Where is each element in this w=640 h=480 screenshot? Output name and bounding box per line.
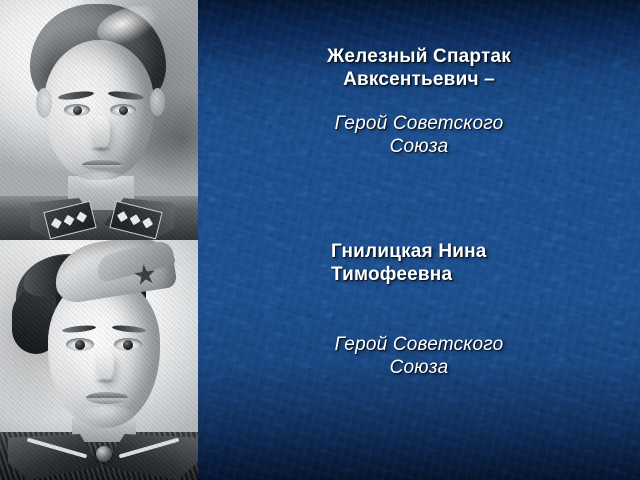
presentation-slide: Железный Спартак Авксентьевич – Герой Со… (0, 0, 640, 480)
ear-right (150, 88, 165, 116)
portrait-column (0, 0, 198, 480)
rank-pip (117, 211, 128, 222)
rank-pip (64, 215, 75, 226)
hero-name-gnilitskaya: Гнилицкая Нина Тимофеевна (331, 240, 487, 286)
portrait-hero-male (0, 0, 198, 240)
nose (92, 116, 110, 150)
ear-left (36, 88, 52, 118)
pupil-left (73, 106, 82, 115)
pupil-right (119, 106, 128, 115)
hero-name-zhelezny: Железный Спартак Авксентьевич – (198, 45, 640, 91)
mouth (82, 160, 122, 170)
chin (78, 406, 136, 426)
pupil-left (75, 340, 85, 350)
nostrils (94, 378, 116, 384)
chin (74, 172, 130, 190)
rank-pip (76, 212, 87, 223)
pupil-right (123, 340, 133, 350)
rank-pip (51, 218, 62, 229)
mouth (86, 392, 128, 404)
face (44, 40, 154, 180)
portrait-hero-female (0, 240, 198, 480)
hero-title-zhelezny: Герой Советского Союза (198, 112, 640, 158)
uniform-button (96, 446, 112, 462)
caption-area: Железный Спартак Авксентьевич – Герой Со… (198, 0, 640, 480)
rank-pip (142, 217, 153, 228)
nostrils (90, 146, 112, 152)
rank-pip (130, 214, 141, 225)
hero-title-gnilitskaya: Герой Советского Союза (198, 333, 640, 379)
